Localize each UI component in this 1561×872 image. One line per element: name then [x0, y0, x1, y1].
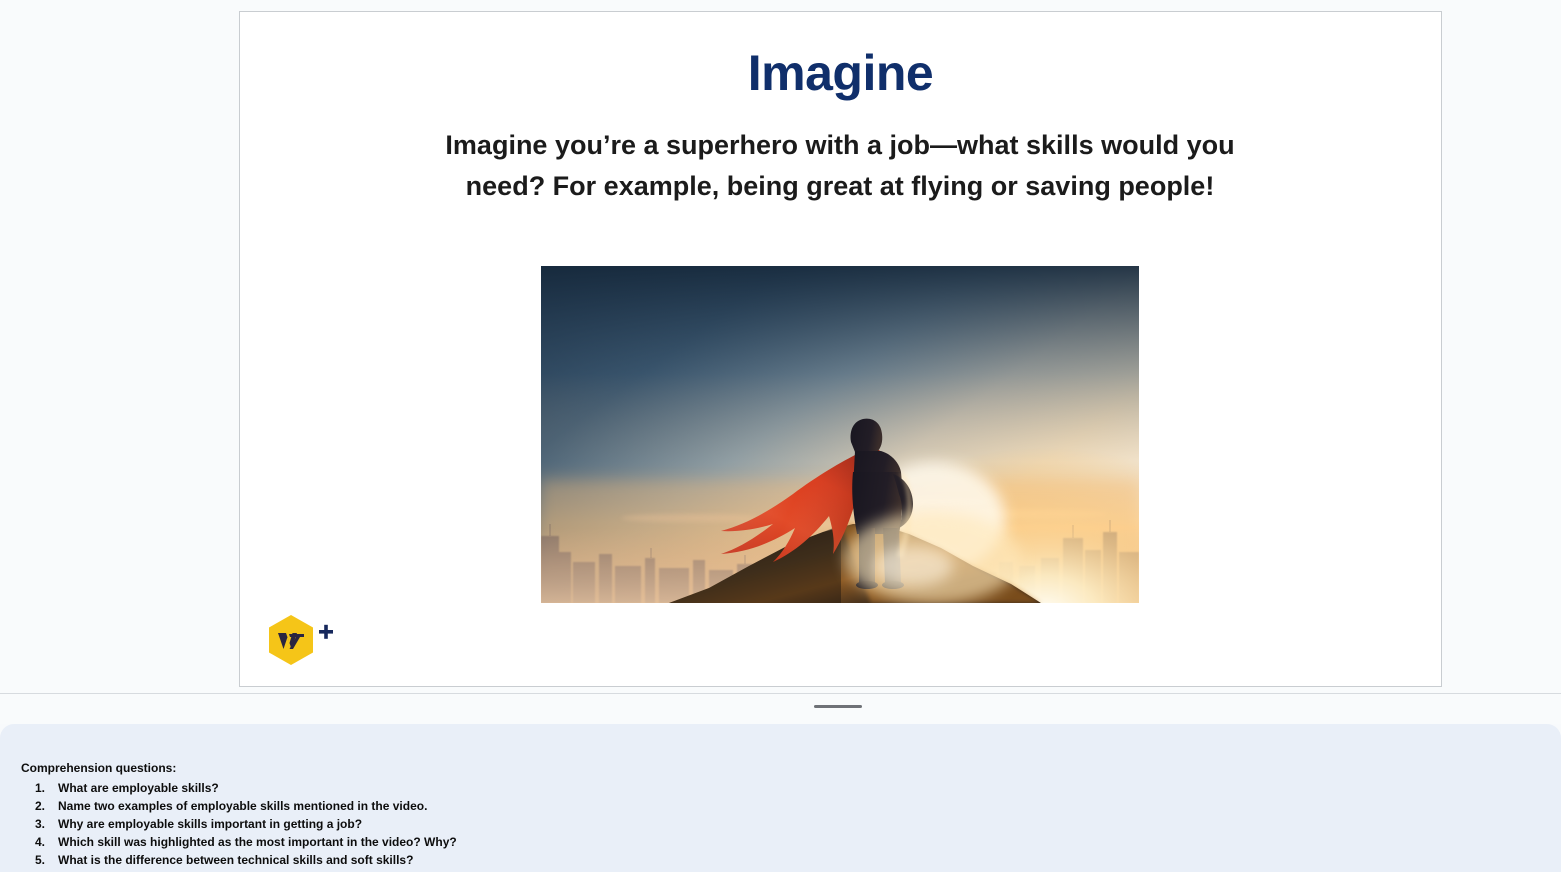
- list-item: 2. Name two examples of employable skill…: [21, 797, 1561, 815]
- slide-title[interactable]: Imagine: [240, 46, 1441, 101]
- list-item-text: What are employable skills?: [58, 779, 1561, 797]
- logo-w-stroke: [289, 634, 304, 637]
- presentation-editor: Imagine Imagine you’re a superhero with …: [0, 0, 1561, 872]
- list-item: 1. What are employable skills?: [21, 779, 1561, 797]
- list-item-text: What is the difference between technical…: [58, 851, 1561, 869]
- list-item: 3. Why are employable skills important i…: [21, 815, 1561, 833]
- slide-canvas[interactable]: Imagine Imagine you’re a superhero with …: [239, 11, 1442, 687]
- list-item-number: 5.: [21, 851, 58, 869]
- list-item-text: Why are employable skills important in g…: [58, 815, 1561, 833]
- superhero-image[interactable]: [541, 266, 1139, 603]
- speaker-notes-panel[interactable]: Comprehension questions: 1. What are emp…: [0, 724, 1561, 872]
- slide-stage: Imagine Imagine you’re a superhero with …: [0, 0, 1561, 724]
- wps-logo-svg: [263, 613, 343, 675]
- notes-heading: Comprehension questions:: [21, 762, 1561, 774]
- comprehension-questions-list: 1. What are employable skills? 2. Name t…: [21, 779, 1561, 869]
- pane-resize-handle[interactable]: [814, 705, 862, 708]
- list-item: 4. Which skill was highlighted as the mo…: [21, 833, 1561, 851]
- list-item-number: 3.: [21, 815, 58, 833]
- pane-divider-line: [0, 693, 1561, 694]
- list-item: 5. What is the difference between techni…: [21, 851, 1561, 869]
- list-item-text: Which skill was highlighted as the most …: [58, 833, 1561, 851]
- slide-subtitle[interactable]: Imagine you’re a superhero with a job—wh…: [445, 125, 1235, 207]
- list-item-text: Name two examples of employable skills m…: [58, 797, 1561, 815]
- logo-plus: [319, 625, 333, 639]
- superhero-illustration-svg: [541, 266, 1139, 603]
- list-item-number: 2.: [21, 797, 58, 815]
- list-item-number: 4.: [21, 833, 58, 851]
- list-item-number: 1.: [21, 779, 58, 797]
- wps-office-logo: [263, 613, 343, 675]
